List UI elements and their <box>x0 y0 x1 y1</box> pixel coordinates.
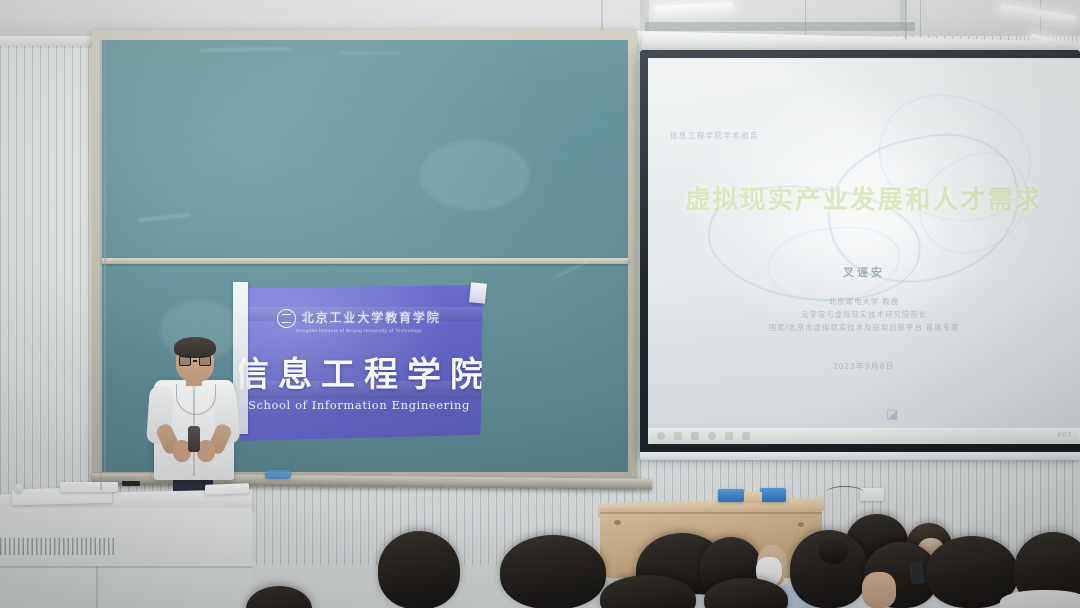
ceiling-tile <box>920 0 1041 36</box>
slide-affiliation-line-1: 北京邮电大学 教授 <box>648 295 1080 308</box>
chalk-mark <box>340 52 400 54</box>
wall-corner-line <box>100 40 102 490</box>
lectern-edge <box>600 512 822 514</box>
slide-speaker-name: 叉诬安 <box>648 264 1080 280</box>
window-icon[interactable] <box>674 432 682 440</box>
university-seal-logo-icon <box>277 309 296 328</box>
banner-department-name-cn: 信息工程学院 <box>235 358 483 392</box>
audience-hair-bun <box>818 538 848 564</box>
slide-affiliation-line-2: 元宇宙与虚拟现实技术研究院院长 <box>648 308 1080 321</box>
audience-hand <box>862 572 896 608</box>
audience-head <box>378 531 460 608</box>
banner-university-lockup: 北京工业大学教育学院 <box>235 309 483 327</box>
home-icon[interactable] <box>657 432 665 440</box>
slide-artwork-wisp <box>861 74 1048 244</box>
glasses-left-lens <box>179 356 191 366</box>
lectern-blue-folder-right[interactable] <box>760 488 786 502</box>
screen-lower-rail <box>640 452 1080 460</box>
chalk-smudge <box>420 140 530 210</box>
console-panel-seam <box>0 566 252 568</box>
pen-icon[interactable] <box>708 432 716 440</box>
glasses-right-lens <box>199 356 211 366</box>
lectern-cable-hole <box>798 522 804 527</box>
slide-affiliation-line-3: 国家/北京市虚拟现实技术及应用创新平台 首席专家 <box>648 321 1080 334</box>
slide-corner-logo-icon: ◪ <box>886 406 898 422</box>
projection-screen[interactable]: 信息工程学院学术报告 虚拟现实产业发展和人才需求 叉诬安 北京邮电大学 教授 元… <box>648 58 1080 430</box>
department-banner: 北京工业大学教育学院 Dongdao Institute of Beijing … <box>235 285 483 441</box>
lectern-block <box>744 492 762 503</box>
slide-title: 虚拟现实产业发展和人才需求 <box>648 180 1080 216</box>
console-remote[interactable] <box>122 481 140 486</box>
audience-shoulders <box>1000 590 1080 608</box>
eraser-icon[interactable] <box>725 432 733 440</box>
banner-department-name-en: School of Information Engineering <box>235 398 483 412</box>
pointer-icon[interactable] <box>691 432 699 440</box>
audience-head <box>500 535 606 608</box>
toolbar-right-label: PPT <box>1058 433 1072 439</box>
presenter-eyeglasses <box>179 356 211 366</box>
document-camera-base[interactable] <box>60 482 118 492</box>
banner-university-name-cn: 北京工业大学教育学院 <box>301 312 440 325</box>
lecture-hall-photo: 北京工业大学教育学院 Dongdao Institute of Beijing … <box>0 0 1080 608</box>
slide-date: 2023年9月8日 <box>648 361 1080 372</box>
smartboard-toolbar[interactable]: PPT <box>648 428 1080 444</box>
wall-cable <box>826 486 864 499</box>
console-side-unit <box>205 483 249 495</box>
ceiling-shadow <box>645 22 915 31</box>
chalkboard-left-edge <box>104 40 106 472</box>
chalkboard-divider-rail <box>102 258 628 264</box>
lectern-cable-hole <box>614 520 621 525</box>
microphone[interactable] <box>188 426 200 452</box>
console-panel-seam <box>96 566 98 608</box>
wall-outlet-box[interactable] <box>860 488 884 501</box>
wall-seam <box>905 0 907 40</box>
lectern-blue-folder-left[interactable] <box>718 489 744 502</box>
slide-eyebrow-text: 信息工程学院学术报告 <box>670 130 759 141</box>
console-vent-grille <box>0 538 116 555</box>
chalk-eraser[interactable] <box>265 470 291 479</box>
console-knob[interactable] <box>14 484 23 493</box>
banner-university-name-en: Dongdao Institute of Beijing University … <box>235 328 483 333</box>
presenter-hair <box>174 337 216 358</box>
teacher-console-body <box>0 508 252 608</box>
banner-tape-right <box>469 282 487 304</box>
shapes-icon[interactable] <box>742 432 750 440</box>
glasses-bridge <box>193 360 197 362</box>
